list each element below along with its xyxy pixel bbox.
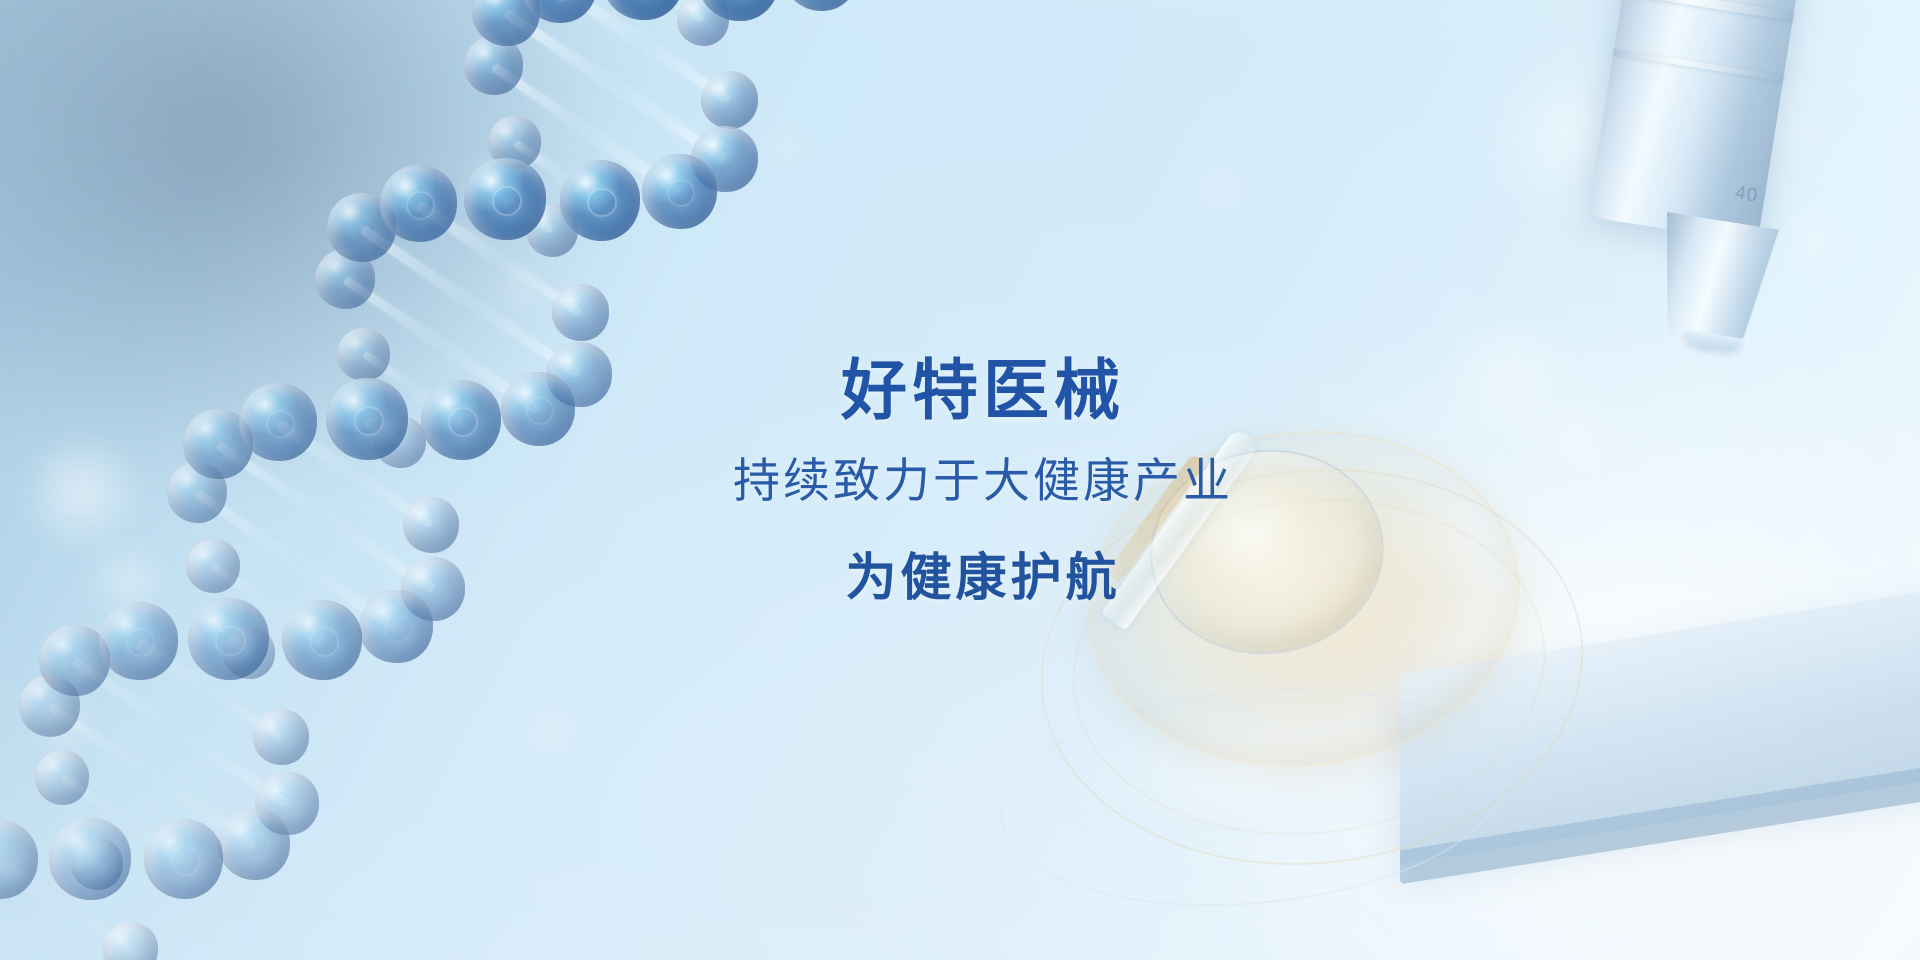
hero-banner: 40 好特医械 持续致力于大健康产业 为健康护航 <box>0 0 1920 960</box>
dna-base-node <box>701 71 759 129</box>
dna-node-highlight <box>63 649 90 676</box>
dna-node-highlight <box>526 397 554 425</box>
dna-node-highlight <box>207 433 233 459</box>
dna-node-highlight <box>354 406 384 436</box>
dna-base-node <box>403 497 459 553</box>
dna-node-highlight <box>587 188 617 218</box>
page-tagline: 为健康护航 <box>845 552 1120 603</box>
dna-node-highlight <box>171 846 200 875</box>
dna-base-node <box>552 284 609 341</box>
page-title: 好特医械 <box>841 357 1125 423</box>
dna-node-highlight <box>215 626 245 656</box>
dna-node-highlight <box>406 191 435 220</box>
dna-base-node <box>35 750 89 804</box>
dna-node-highlight <box>266 410 295 439</box>
dna-base-node <box>186 539 240 593</box>
dna-base-node <box>337 328 391 382</box>
dna-node-highlight <box>351 217 377 243</box>
dna-node-highlight <box>242 833 269 860</box>
dna-node-highlight <box>384 615 411 642</box>
dna-base-node <box>253 709 309 765</box>
page-subtitle: 持续致力于大健康产业 <box>733 457 1233 504</box>
dna-node-highlight <box>310 627 340 657</box>
dna-node-highlight <box>492 186 522 216</box>
dna-node-highlight <box>448 407 478 437</box>
dna-base-node <box>49 818 131 900</box>
